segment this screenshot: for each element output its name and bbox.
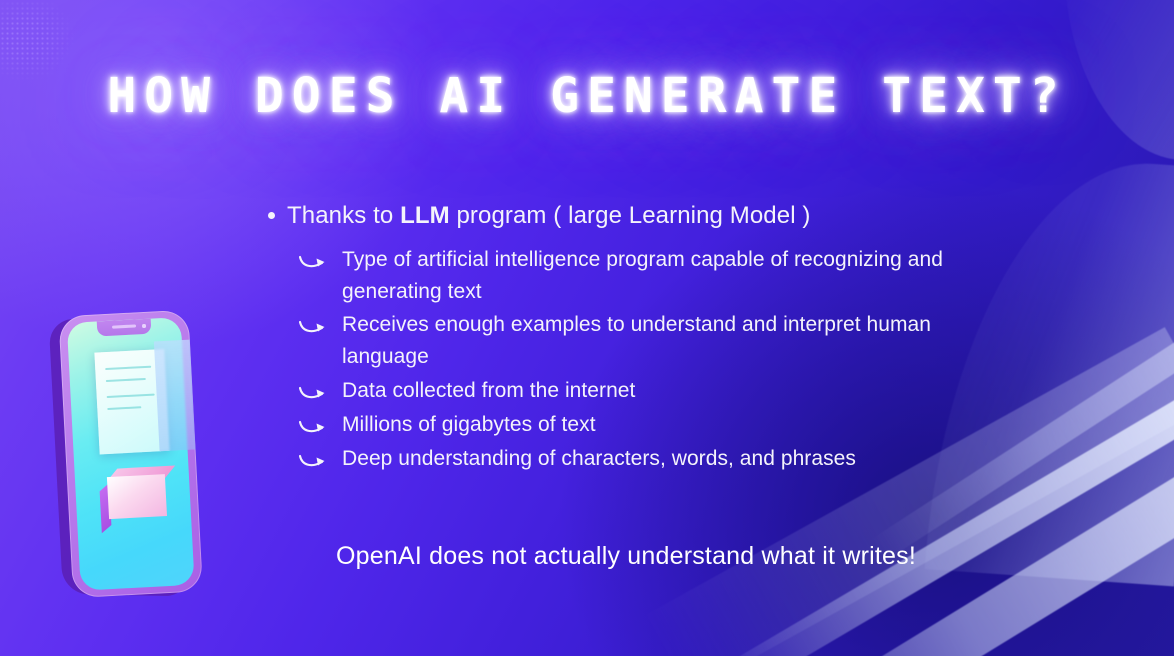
phone-camera-dot [142, 324, 146, 328]
card-line [105, 366, 151, 370]
box-front-face [107, 474, 167, 519]
card-line [107, 406, 141, 410]
bullet-dot-icon [268, 212, 275, 219]
slide-canvas: HOW DOES AI GENERATE TEXT? Thanks to LLM… [0, 0, 1174, 656]
list-item: Receives enough examples to understand a… [298, 309, 1068, 373]
list-item: Deep understanding of characters, words,… [298, 443, 1068, 475]
curved-arrow-icon [298, 381, 332, 403]
pink-3d-box-icon [98, 466, 167, 519]
list-item-label: Data collected from the internet [342, 375, 635, 407]
list-item: Type of artificial intelligence program … [298, 244, 1068, 308]
list-item-label: Millions of gigabytes of text [342, 409, 596, 441]
curved-arrow-icon [298, 449, 332, 471]
list-item: Millions of gigabytes of text [298, 409, 1068, 441]
curved-arrow-icon [298, 415, 332, 437]
glass-panel-overlay [154, 340, 196, 452]
list-item-label: Deep understanding of characters, words,… [342, 443, 856, 475]
curved-arrow-icon [298, 315, 332, 337]
lead-bullet: Thanks to LLM program ( large Learning M… [268, 200, 1068, 232]
lead-text-bold: LLM [400, 202, 450, 229]
lead-bullet-text: Thanks to LLM program ( large Learning M… [287, 200, 811, 232]
curved-arrow-icon [298, 250, 332, 272]
slide-title: HOW DOES AI GENERATE TEXT? [0, 68, 1174, 124]
list-item-label: Type of artificial intelligence program … [342, 244, 1014, 308]
card-line [107, 394, 155, 399]
list-item-label: Receives enough examples to understand a… [342, 309, 1014, 373]
slide-body: Thanks to LLM program ( large Learning M… [268, 200, 1068, 477]
sub-bullet-list: Type of artificial intelligence program … [298, 244, 1068, 475]
smartphone-3d-illustration [44, 299, 250, 619]
card-line [106, 378, 146, 382]
list-item: Data collected from the internet [298, 375, 1068, 407]
lead-text-after: program ( large Learning Model ) [450, 202, 811, 229]
closing-statement: OpenAI does not actually understand what… [336, 542, 916, 571]
lead-text-before: Thanks to [287, 202, 400, 229]
